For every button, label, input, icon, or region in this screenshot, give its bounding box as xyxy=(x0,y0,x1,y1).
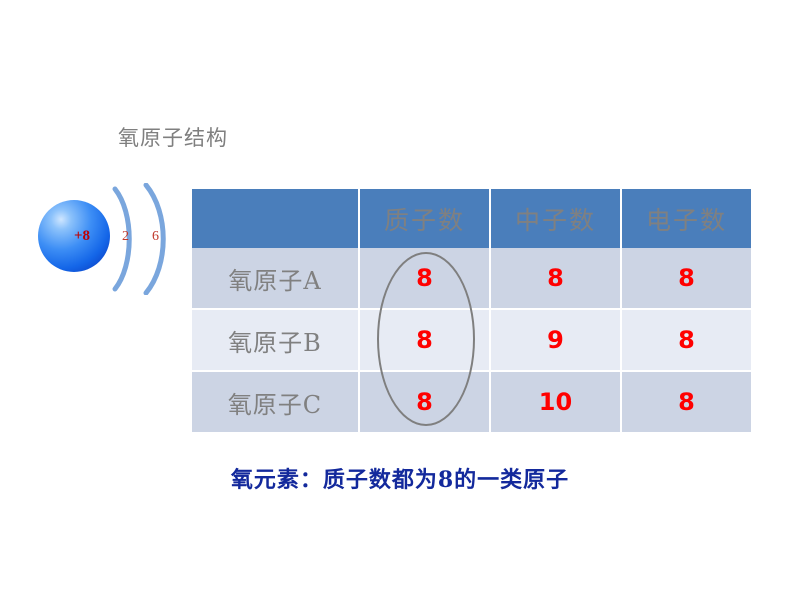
table-header: 质子数 中子数 电子数 xyxy=(192,189,751,248)
cell-a-electrons: 8 xyxy=(622,248,751,310)
row-label-b: 氧原子B xyxy=(192,310,360,372)
table-header-row: 质子数 中子数 电子数 xyxy=(192,189,751,248)
cell-c-electrons: 8 xyxy=(622,372,751,432)
cell-b-protons: 8 xyxy=(360,310,491,372)
oxygen-atom-diagram: +8 2 6 xyxy=(22,183,192,295)
page-title: 氧原子结构 xyxy=(118,122,228,152)
header-electrons: 电子数 xyxy=(622,189,751,248)
header-corner-cell xyxy=(192,189,360,248)
slide-caption: 氧元素：质子数都为8的一类原子 xyxy=(0,462,800,494)
table-row: 氧原子B 8 9 8 xyxy=(192,310,751,372)
table-row: 氧原子A 8 8 8 xyxy=(192,248,751,310)
table-body: 氧原子A 8 8 8 氧原子B 8 9 8 氧原子C 8 10 8 xyxy=(192,248,751,432)
cell-c-neutrons: 10 xyxy=(491,372,622,432)
header-neutrons: 中子数 xyxy=(491,189,622,248)
cell-c-protons: 8 xyxy=(360,372,491,432)
cell-a-neutrons: 8 xyxy=(491,248,622,310)
cell-b-electrons: 8 xyxy=(622,310,751,372)
header-protons: 质子数 xyxy=(360,189,491,248)
table-row: 氧原子C 8 10 8 xyxy=(192,372,751,432)
cell-b-neutrons: 9 xyxy=(491,310,622,372)
row-label-c: 氧原子C xyxy=(192,372,360,432)
nucleus-charge-label: +8 xyxy=(38,200,110,272)
row-label-a: 氧原子A xyxy=(192,248,360,310)
outer-shell-electron-count: 6 xyxy=(152,229,159,245)
cell-a-protons: 8 xyxy=(360,248,491,310)
isotope-table: 质子数 中子数 电子数 氧原子A 8 8 8 氧原子B 8 9 8 氧原子C 8… xyxy=(192,189,751,432)
inner-shell-electron-count: 2 xyxy=(122,229,129,245)
slide-canvas: 氧原子结构 +8 2 6 质子数 中子数 电子数 氧原子A 8 8 8 xyxy=(0,0,800,600)
